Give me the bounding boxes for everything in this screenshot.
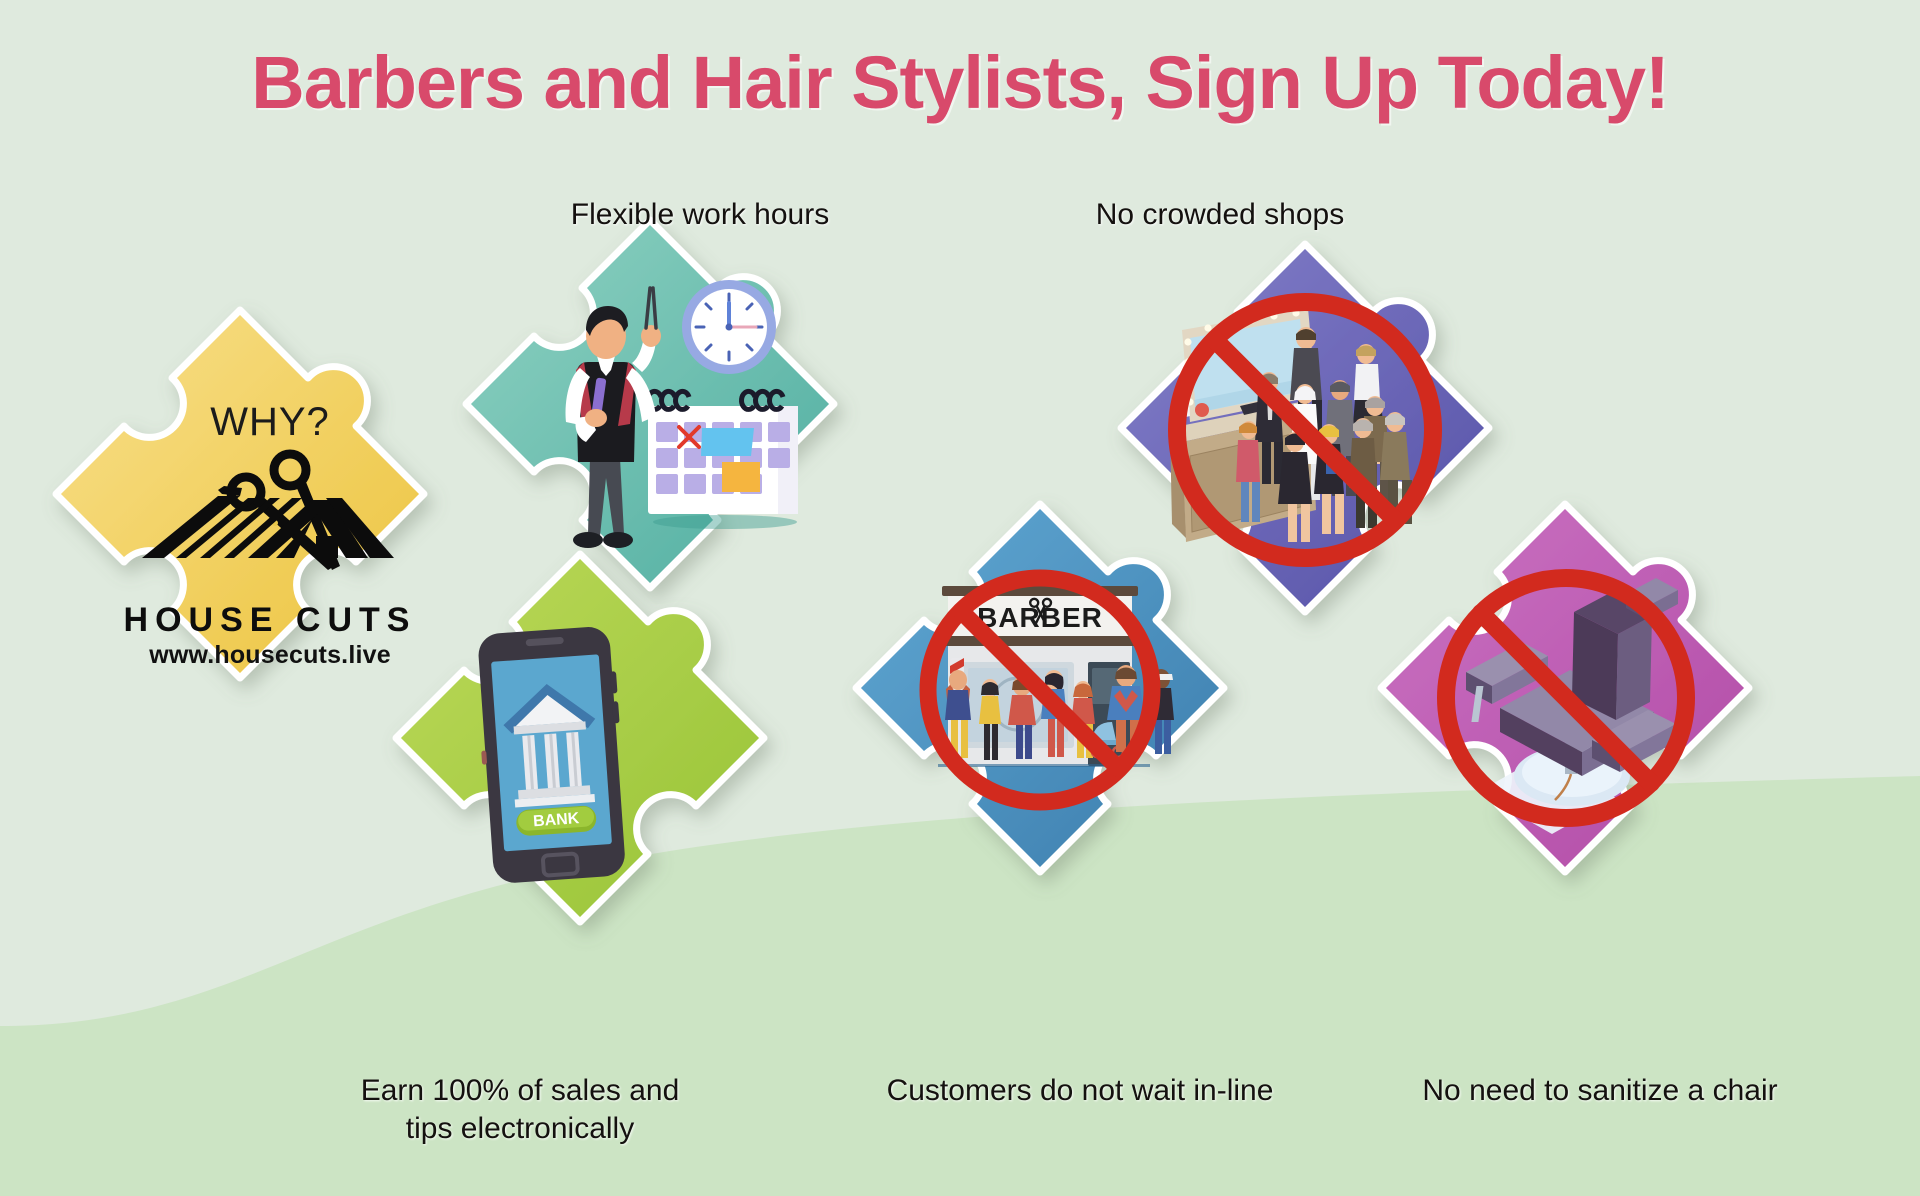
- clock-icon: [682, 280, 776, 374]
- bank-button-label: BANK: [533, 810, 581, 830]
- why-label: WHY?: [150, 400, 390, 445]
- calendar-icon: [648, 391, 798, 529]
- house-roof-icon: [142, 496, 394, 558]
- caption-flexible-work-hours: Flexible work hours: [430, 196, 970, 234]
- logo-url: www.housecuts.live: [120, 641, 420, 670]
- infographic-canvas: Barbers and Hair Stylists, Sign Up Today…: [0, 0, 1920, 1196]
- puzzle-piece-no-sanitize-chair[interactable]: [1350, 490, 1780, 930]
- smartphone-bank-app: BANK: [473, 625, 630, 884]
- caption-earn-sales-tips: Earn 100% of sales and tips electronical…: [240, 1072, 800, 1147]
- caption-no-sanitize-chair: No need to sanitize a chair: [1320, 1072, 1880, 1110]
- house-cuts-logo: HOUSE CUTS www.housecuts.live: [120, 440, 420, 670]
- logo-mark: [120, 440, 420, 600]
- logo-name: HOUSE CUTS: [120, 601, 420, 640]
- puzzle-piece-earn-sales-tips[interactable]: BANK: [370, 540, 790, 970]
- caption-no-crowded-shops: No crowded shops: [940, 196, 1500, 234]
- caption-no-waiting-in-line: Customers do not wait in-line: [790, 1072, 1370, 1110]
